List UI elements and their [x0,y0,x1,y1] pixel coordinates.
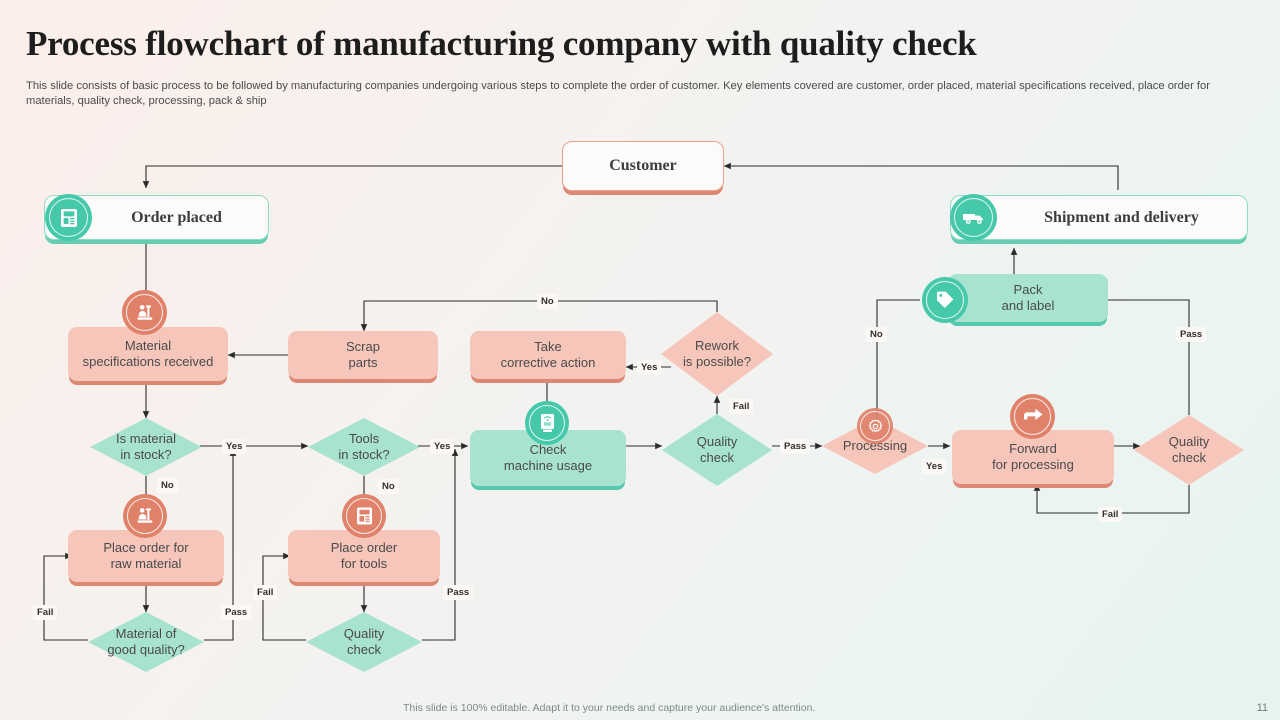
edge-label-pass-tools-quality: Pass [443,585,473,600]
node-is-material-in-stock[interactable]: Is material in stock? [90,418,202,476]
node-material-good-quality-label: Material of good quality? [88,612,204,672]
node-scrap-parts-label: Scrap parts [340,339,386,371]
node-pack-and-label-label: Pack and label [996,282,1061,314]
node-material-specifications-received[interactable]: Material specifications received [68,327,228,381]
edge-label-fail-material-quality: Fail [33,605,57,620]
footer-note: This slide is 100% editable. Adapt it to… [403,702,815,714]
edge-label-fail-tools-quality: Fail [253,585,277,600]
node-quality-check-right-label: Quality check [1134,415,1244,485]
factory-worker-icon [122,290,167,335]
delivery-truck-icon [950,194,997,241]
node-shipment-label: Shipment and delivery [1044,209,1199,227]
edge-label-pass-qc-right: Pass [1176,327,1206,342]
node-customer[interactable]: Customer [562,141,724,191]
node-take-corrective-action-label: Take corrective action [495,339,602,371]
node-tools-in-stock[interactable]: Tools in stock? [308,418,420,476]
node-place-order-tools-label: Place order for tools [325,540,403,572]
node-take-corrective-action[interactable]: Take corrective action [470,331,626,379]
node-order-placed-label: Order placed [131,209,222,227]
factory-worker-icon [123,494,167,538]
edge-label-yes-tools-stock: Yes [430,439,454,454]
edge-label-pass-qc-center: Pass [780,439,810,454]
node-quality-check-center-label: Quality check [662,414,772,486]
node-tools-in-stock-label: Tools in stock? [308,418,420,476]
node-quality-check-tools[interactable]: Quality check [306,612,422,672]
node-is-material-in-stock-label: Is material in stock? [90,418,202,476]
node-place-order-raw-label: Place order for raw material [97,540,194,572]
node-check-machine-usage-label: Check machine usage [498,442,598,474]
edge-label-yes-rework: Yes [637,360,661,375]
node-forward-for-processing-label: Forward for processing [986,441,1080,473]
node-quality-check-right[interactable]: Quality check [1134,415,1244,485]
edge-label-fail-qc-center: Fail [729,399,753,414]
edge-label-no-material-stock: No [157,478,178,493]
page-subtitle: This slide consists of basic process to … [26,79,1254,108]
page-title: Process flowchart of manufacturing compa… [26,24,1226,64]
edge-label-pass-material-quality: Pass [221,605,251,620]
edge-label-yes-material-stock: Yes [222,439,246,454]
node-material-specs-label: Material specifications received [77,338,220,370]
node-pack-and-label[interactable]: Pack and label [948,274,1108,322]
node-scrap-parts[interactable]: Scrap parts [288,331,438,379]
node-quality-check-tools-label: Quality check [306,612,422,672]
slide-canvas: Process flowchart of manufacturing compa… [0,0,1280,720]
edge-label-fail-qc-right: Fail [1098,507,1122,522]
gear-icon [857,408,893,444]
order-form-icon [45,194,92,241]
right-arrow-icon [1010,394,1055,439]
node-rework-label: Rework is possible? [661,312,773,396]
edge-label-no-rework: No [537,294,558,309]
edge-label-yes-processing: Yes [922,459,946,474]
price-tag-icon [922,277,968,323]
node-material-of-good-quality[interactable]: Material of good quality? [88,612,204,672]
order-form-icon [342,494,386,538]
node-quality-check-center[interactable]: Quality check [662,414,772,486]
page-number: 11 [1257,702,1268,714]
edge-label-no-tools-stock: No [378,479,399,494]
machine-monitor-icon [525,401,569,445]
node-rework-is-possible[interactable]: Rework is possible? [661,312,773,396]
edge-label-no-processing: No [866,327,887,342]
node-customer-label: Customer [609,157,677,175]
